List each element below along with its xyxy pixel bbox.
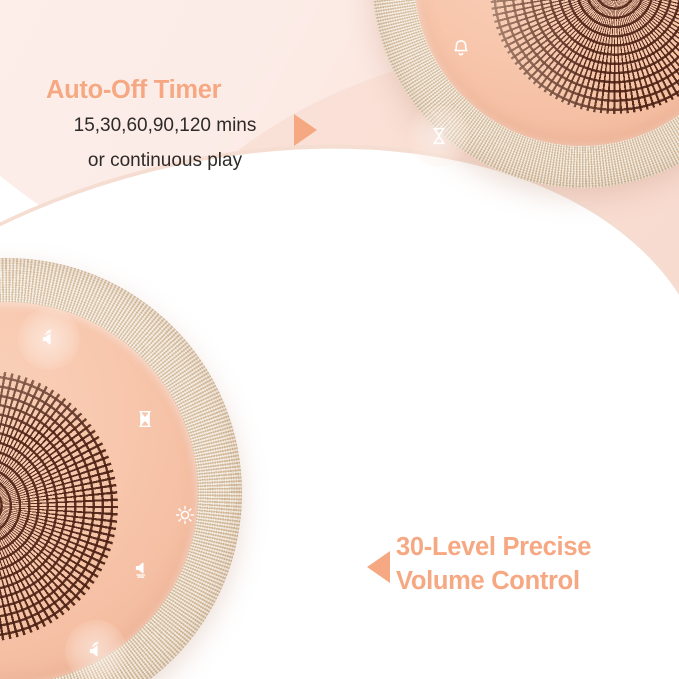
product-feature-graphic: Auto-Off Timer 15,30,60,90,120 mins or c… xyxy=(0,0,679,679)
volume-speaker-icon[interactable] xyxy=(510,236,536,262)
triangle-left-icon xyxy=(367,551,390,583)
caption-line-1: 15,30,60,90,120 mins xyxy=(44,112,286,140)
sound-waves-icon[interactable] xyxy=(36,326,62,352)
volume-down-icon[interactable] xyxy=(129,555,155,581)
caption-heading: Auto-Off Timer xyxy=(44,76,286,105)
caption-heading-line-2: Volume Control xyxy=(396,565,658,599)
caption-volume-control: 30-Level Precise Volume Control xyxy=(396,531,658,598)
timer-hourglass-icon[interactable] xyxy=(426,123,452,149)
timer-hourglass-icon[interactable] xyxy=(132,406,158,432)
alarm-bell-icon[interactable] xyxy=(448,36,474,62)
caption-heading-line-1: 30-Level Precise xyxy=(396,531,658,565)
previous-track-icon[interactable] xyxy=(593,265,619,291)
triangle-right-icon xyxy=(294,114,317,146)
brightness-sun-icon[interactable] xyxy=(172,502,198,528)
sound-waves-icon-2[interactable] xyxy=(83,638,109,664)
caption-auto-off-timer: Auto-Off Timer 15,30,60,90,120 mins or c… xyxy=(44,76,286,174)
caption-line-2: or continuous play xyxy=(44,147,286,175)
